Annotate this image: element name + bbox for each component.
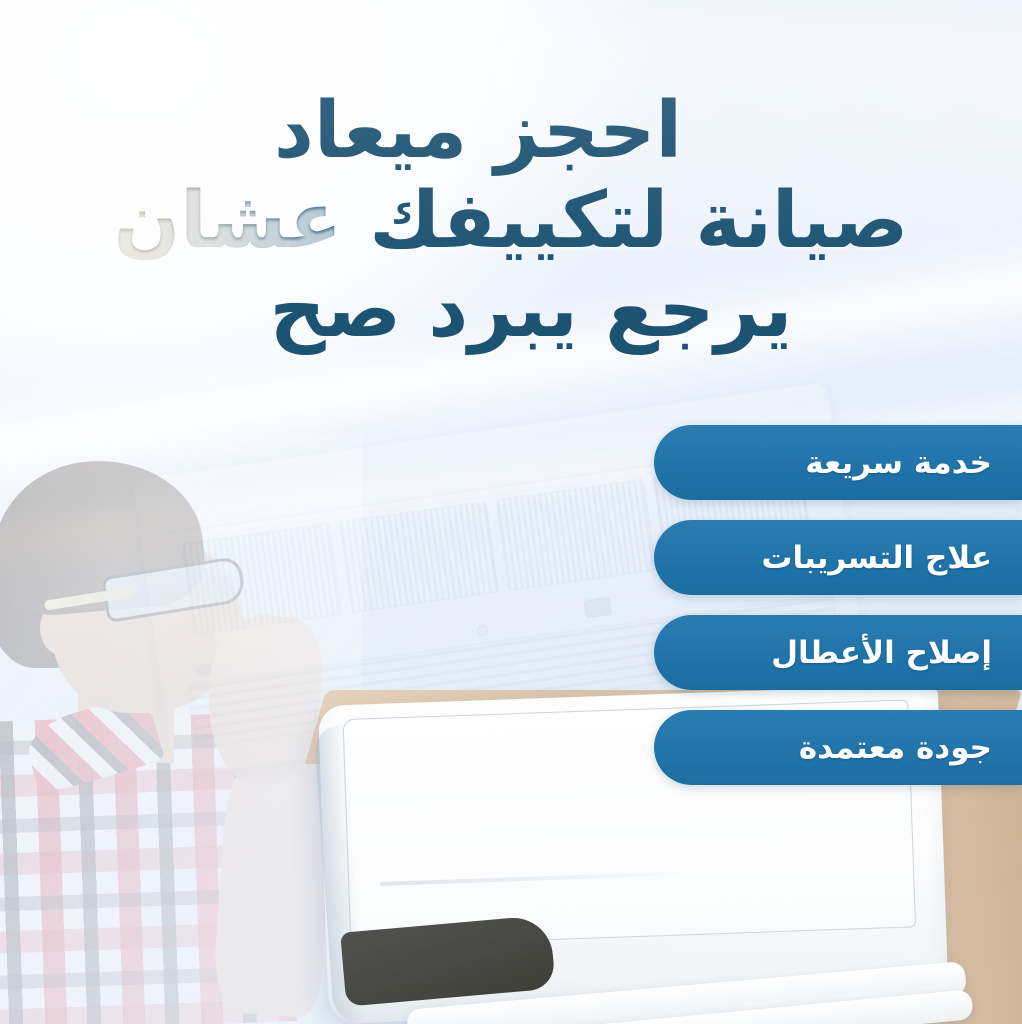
photo-wash-overlay (0, 435, 362, 1024)
technician-photo (0, 455, 342, 1024)
feature-pill-label: إصلاح الأعطال (654, 635, 996, 671)
feature-pill-certified-quality[interactable]: جودة معتمدة (654, 710, 1022, 785)
headline-line-3: يرجع يبرد صح (0, 271, 1022, 351)
background-ac-display (584, 597, 612, 618)
ad-poster: احجز ميعاد صيانة لتكييفك عشان يرجع يبرد … (0, 0, 1022, 1024)
feature-pill-leak-treatment[interactable]: علاج التسريبات (654, 520, 1022, 595)
feature-pill-label: علاج التسريبات (654, 540, 996, 576)
headline-gradient-word: عشان (114, 176, 343, 266)
feature-pill-list: خدمة سريعة علاج التسريبات إصلاح الأعطال … (654, 425, 1022, 785)
headline: احجز ميعاد صيانة لتكييفك عشان يرجع يبرد … (0, 92, 1022, 351)
feature-pill-label: جودة معتمدة (654, 730, 996, 766)
headline-line-1: احجز ميعاد (0, 92, 1022, 172)
feature-pill-fast-service[interactable]: خدمة سريعة (654, 425, 1022, 500)
headline-line-2-main: صيانة لتكييفك (369, 176, 908, 266)
feature-pill-fault-repair[interactable]: إصلاح الأعطال (654, 615, 1022, 690)
feature-pill-label: خدمة سريعة (654, 445, 996, 481)
headline-line-2: صيانة لتكييفك عشان (0, 182, 1022, 262)
